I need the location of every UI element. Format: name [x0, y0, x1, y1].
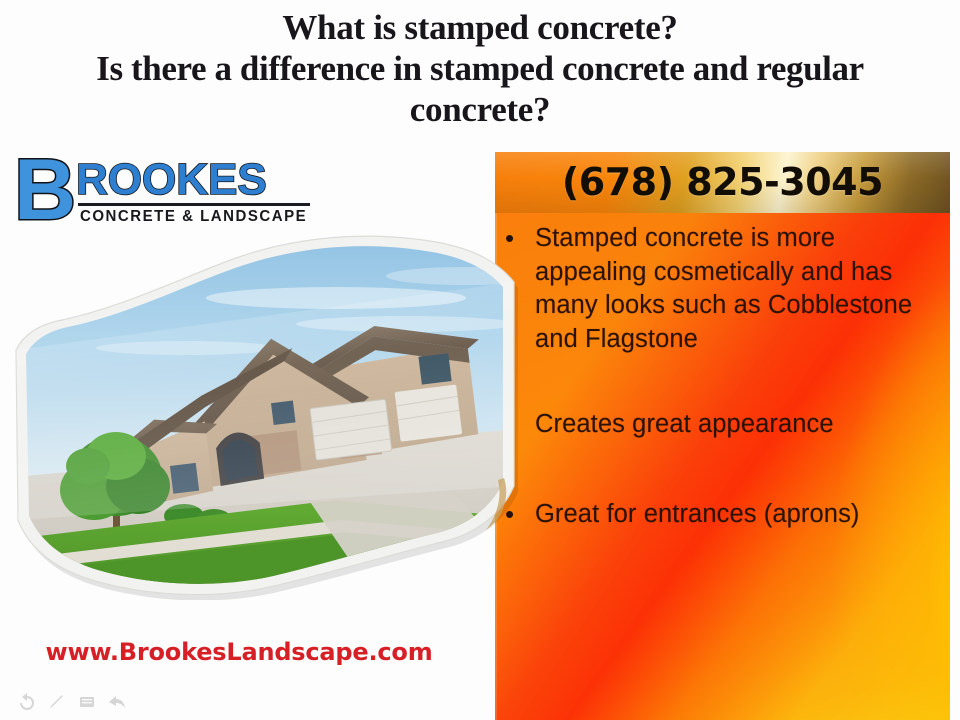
logo-divider-rule [78, 203, 310, 206]
logo-monogram-b: B [14, 150, 74, 230]
player-controls[interactable] [18, 690, 158, 714]
share-icon[interactable] [108, 693, 126, 711]
house-photo [6, 228, 526, 600]
info-panel: (678) 825-3045 • Stamped concrete is mor… [495, 152, 950, 720]
logo-brand-text: ROOKES [76, 158, 267, 202]
website-url[interactable]: www.BrookesLandscape.com [0, 638, 478, 666]
bullet-text: Creates great appearance [535, 408, 950, 442]
brookes-logo: B ROOKES CONCRETE & LANDSCAPE [14, 150, 314, 230]
page-title: What is stamped concrete? Is there a dif… [0, 8, 960, 130]
edit-pencil-icon[interactable] [48, 693, 66, 711]
title-line-1: What is stamped concrete? [0, 8, 960, 48]
bullet-text: Great for entrances (aprons) [535, 498, 950, 532]
logo-tagline: CONCRETE & LANDSCAPE [80, 208, 307, 226]
replay-icon[interactable] [18, 693, 36, 711]
list-item: • Stamped concrete is more appealing cos… [495, 222, 950, 356]
list-item: • Creates great appearance [495, 408, 950, 442]
list-item: • Great for entrances (aprons) [495, 498, 950, 532]
list-icon[interactable] [78, 693, 96, 711]
title-line-3: concrete? [0, 90, 960, 130]
phone-number[interactable]: (678) 825-3045 [495, 154, 950, 210]
bullet-text: Stamped concrete is more appealing cosme… [535, 222, 950, 356]
bullet-list: • Stamped concrete is more appealing cos… [495, 222, 950, 557]
video-slide: What is stamped concrete? Is there a dif… [0, 0, 960, 720]
title-line-2: Is there a difference in stamped concret… [0, 49, 960, 89]
